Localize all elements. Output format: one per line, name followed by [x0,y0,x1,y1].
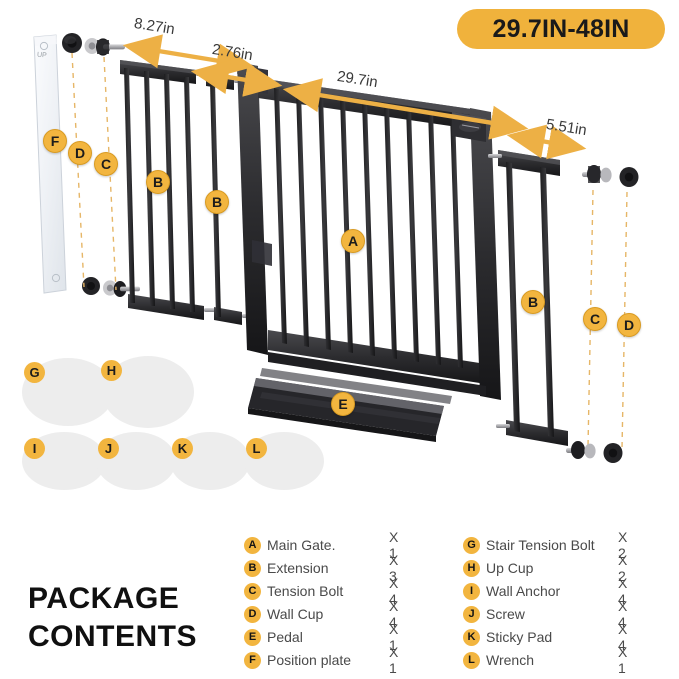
legend-name-e: Pedal [267,629,303,645]
legend-column-left: A Main Gate. X 1 B Extension X 3 C Tensi… [244,534,351,672]
legend-item-f: F Position plate X 1 [244,649,351,671]
position-plate-part [34,35,66,293]
legend-item-l: L Wrench X 1 [463,649,595,671]
legend-item-e: E Pedal X 1 [244,626,351,648]
callout-badge-b-right-extension[interactable]: B [521,290,545,314]
legend-name-f: Position plate [267,652,351,668]
parts-badge-i[interactable]: I [24,438,45,459]
legend-name-d: Wall Cup [267,606,323,622]
legend-name-l: Wrench [486,652,534,668]
legend-name-j: Screw [486,606,525,622]
legend-item-c: C Tension Bolt X 4 [244,580,351,602]
callout-badge-c[interactable]: C [94,152,118,176]
legend-badge-k: K [463,629,480,646]
product-diagram-canvas: 3M 3M 3M 3M 29.7IN-48IN 8.27in 2.76in 29… [0,0,679,679]
legend-badge-c: C [244,583,261,600]
legend-item-d: D Wall Cup X 4 [244,603,351,625]
position-plate-up-label: UP [37,52,47,60]
wall-cup-part-topright [620,167,639,187]
tension-bolt-part-bottomright [566,441,596,459]
legend-name-g: Stair Tension Bolt [486,537,595,553]
callout-badge-e[interactable]: E [331,392,355,416]
package-contents-title-line2: CONTENTS [28,618,197,656]
legend-item-b: B Extension X 3 [244,557,351,579]
legend-badge-i: I [463,583,480,600]
callout-badge-b-large-extension[interactable]: B [146,170,170,194]
legend-badge-e: E [244,629,261,646]
tension-bolt-part-topright [582,165,612,183]
legend-item-i: I Wall Anchor X 4 [463,580,595,602]
size-range-badge: 29.7IN-48IN [457,9,665,49]
legend-name-i: Wall Anchor [486,583,560,599]
legend-badge-d: D [244,606,261,623]
parts-badge-k[interactable]: K [172,438,193,459]
legend-badge-f: F [244,652,261,669]
legend-item-h: H Up Cup X 2 [463,557,595,579]
legend-badge-h: H [463,560,480,577]
tension-bolt-part-topleft [85,38,126,56]
wall-cup-part-bottomright [604,443,623,463]
legend-name-b: Extension [267,560,328,576]
legend-item-j: J Screw X 4 [463,603,595,625]
package-contents-title-line1: PACKAGE [28,580,197,618]
legend-badge-b: B [244,560,261,577]
arrow-5-51in [512,136,582,148]
wall-cup-part-topleft [62,33,82,53]
callout-badge-a[interactable]: A [341,229,365,253]
callout-badge-f[interactable]: F [43,129,67,153]
callout-badge-d-right[interactable]: D [617,313,641,337]
main-gate-part [237,62,501,400]
parts-badge-g[interactable]: G [24,362,45,383]
parts-badge-l[interactable]: L [246,438,267,459]
legend-qty-f: X 1 [389,644,398,676]
legend-badge-g: G [463,537,480,554]
legend-name-k: Sticky Pad [486,629,552,645]
legend-column-right: G Stair Tension Bolt X 2 H Up Cup X 2 I … [463,534,595,672]
legend-name-h: Up Cup [486,560,533,576]
legend-item-g: G Stair Tension Bolt X 2 [463,534,595,556]
legend-badge-l: L [463,652,480,669]
legend-item-k: K Sticky Pad X 4 [463,626,595,648]
wall-cup-part-bottomleft [82,277,100,295]
callout-badge-b-small-extension[interactable]: B [205,190,229,214]
legend-badge-j: J [463,606,480,623]
legend-name-a: Main Gate. [267,537,335,553]
legend-badge-a: A [244,537,261,554]
parts-badge-j[interactable]: J [98,438,119,459]
legend-item-a: A Main Gate. X 1 [244,534,351,556]
parts-badge-h[interactable]: H [101,360,122,381]
callout-badge-c-right[interactable]: C [583,307,607,331]
package-contents-title: PACKAGE CONTENTS [28,580,197,657]
callout-badge-d[interactable]: D [68,141,92,165]
extension-panel-large [120,60,218,320]
legend-qty-l: X 1 [618,644,627,676]
legend-name-c: Tension Bolt [267,583,343,599]
